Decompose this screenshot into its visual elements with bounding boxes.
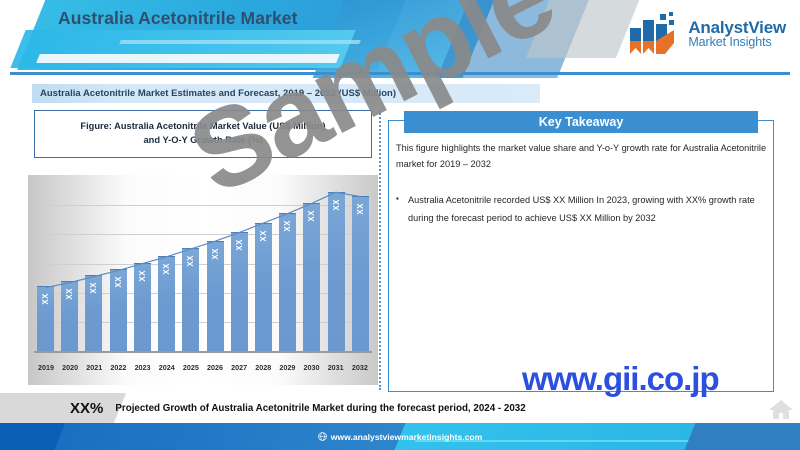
chart-bar-label: XX bbox=[186, 255, 195, 267]
chart-bar-label: XX bbox=[65, 288, 74, 300]
chart-bar: XX bbox=[303, 203, 320, 351]
x-axis-tick-label: 2020 bbox=[59, 363, 81, 372]
chart-x-axis: 2019202020212022202320242025202620272028… bbox=[34, 355, 372, 379]
key-takeaway-bullet: Australia Acetonitrile recorded US$ XX M… bbox=[396, 192, 768, 228]
subtitle-bar: Australia Acetonitrile Market Estimates … bbox=[32, 84, 540, 103]
gii-watermark: www.gii.co.jp bbox=[522, 360, 719, 398]
key-takeaway-bullet-list: Australia Acetonitrile recorded US$ XX M… bbox=[396, 192, 768, 228]
key-takeaway-body: This figure highlights the market value … bbox=[396, 140, 768, 228]
key-takeaway-heading: Key Takeaway bbox=[404, 111, 758, 133]
slide-canvas: Australia Acetonitrile Market AnalystVie… bbox=[0, 0, 800, 450]
chart-bar-label: XX bbox=[356, 203, 365, 215]
chart-bar: XX bbox=[61, 281, 78, 351]
header-stripe-pale bbox=[36, 54, 340, 63]
chart-bar-label: XX bbox=[259, 230, 268, 242]
chart-bar: XX bbox=[352, 196, 369, 351]
home-icon[interactable] bbox=[768, 398, 794, 420]
chart-bar-label: XX bbox=[211, 248, 220, 260]
chart-plot-area: XXXXXXXXXXXXXXXXXXXXXXXXXXXX bbox=[34, 181, 372, 353]
bottom-note-wedge bbox=[0, 393, 126, 423]
bar-chart: XXXXXXXXXXXXXXXXXXXXXXXXXXXX 20192020202… bbox=[28, 175, 378, 385]
chart-bar-label: XX bbox=[138, 270, 147, 282]
chart-bar-label: XX bbox=[114, 276, 123, 288]
x-axis-tick-label: 2030 bbox=[301, 363, 323, 372]
x-axis-tick-label: 2026 bbox=[204, 363, 226, 372]
x-axis-tick-label: 2032 bbox=[349, 363, 371, 372]
figure-title-box: Figure: Australia Acetonitrile Market Va… bbox=[34, 110, 372, 158]
header-stripe-thin bbox=[119, 40, 361, 44]
footer-url-text: www.analystviewmarketinsights.com bbox=[331, 432, 483, 442]
chart-axis-line bbox=[34, 351, 372, 353]
subtitle-text: Australia Acetonitrile Market Estimates … bbox=[40, 88, 396, 99]
chart-bar: XX bbox=[279, 213, 296, 351]
chart-bar-label: XX bbox=[283, 220, 292, 232]
chart-bar-label: XX bbox=[332, 199, 341, 211]
x-axis-tick-label: 2022 bbox=[107, 363, 129, 372]
chart-bar: XX bbox=[134, 263, 151, 351]
chart-bar-label: XX bbox=[41, 293, 50, 305]
figure-title: Figure: Australia Acetonitrile Market Va… bbox=[80, 120, 325, 148]
chart-bar: XX bbox=[110, 269, 127, 351]
logo-tagline: Market Insights bbox=[688, 36, 786, 49]
chart-bar-label: XX bbox=[162, 263, 171, 275]
figure-title-line1: Figure: Australia Acetonitrile Market Va… bbox=[80, 121, 325, 131]
bar-chart-arrow-logo-icon bbox=[629, 12, 681, 56]
chart-bar: XX bbox=[158, 256, 175, 351]
x-axis-tick-label: 2023 bbox=[132, 363, 154, 372]
x-axis-tick-label: 2025 bbox=[180, 363, 202, 372]
header-divider-rule bbox=[10, 72, 790, 75]
x-axis-tick-label: 2029 bbox=[276, 363, 298, 372]
projected-growth-percent: XX% bbox=[70, 400, 103, 417]
footer-url-group[interactable]: www.analystviewmarketinsights.com bbox=[0, 423, 800, 450]
x-axis-tick-label: 2021 bbox=[83, 363, 105, 372]
x-axis-tick-label: 2024 bbox=[156, 363, 178, 372]
chart-bar: XX bbox=[182, 248, 199, 351]
globe-icon bbox=[318, 432, 327, 441]
chart-bar: XX bbox=[207, 241, 224, 352]
slide-footer: www.analystviewmarketinsights.com bbox=[0, 423, 800, 450]
chart-bar: XX bbox=[255, 223, 272, 351]
chart-bar: XX bbox=[37, 286, 54, 351]
x-axis-tick-label: 2019 bbox=[35, 363, 57, 372]
page-title: Australia Acetonitrile Market bbox=[58, 8, 388, 29]
chart-bar-label: XX bbox=[235, 239, 244, 251]
chart-bar-label: XX bbox=[89, 282, 98, 294]
chart-bars: XXXXXXXXXXXXXXXXXXXXXXXXXXXX bbox=[34, 181, 372, 351]
chart-bar: XX bbox=[231, 232, 248, 351]
key-takeaway-intro: This figure highlights the market value … bbox=[396, 140, 768, 172]
logo-name: AnalystView bbox=[688, 19, 786, 37]
figure-title-line2: and Y-O-Y Growth Rate (%) bbox=[144, 135, 263, 145]
panel-divider bbox=[379, 110, 381, 390]
logo-wordmark: AnalystView Market Insights bbox=[688, 19, 786, 50]
chart-bar-label: XX bbox=[307, 210, 316, 222]
chart-bar: XX bbox=[85, 275, 102, 351]
x-axis-tick-label: 2027 bbox=[228, 363, 250, 372]
projected-growth-text: Projected Growth of Australia Acetonitri… bbox=[115, 403, 525, 414]
chart-bar: XX bbox=[328, 192, 345, 351]
x-axis-tick-label: 2031 bbox=[325, 363, 347, 372]
x-axis-tick-label: 2028 bbox=[252, 363, 274, 372]
brand-logo[interactable]: AnalystView Market Insights bbox=[629, 8, 786, 60]
